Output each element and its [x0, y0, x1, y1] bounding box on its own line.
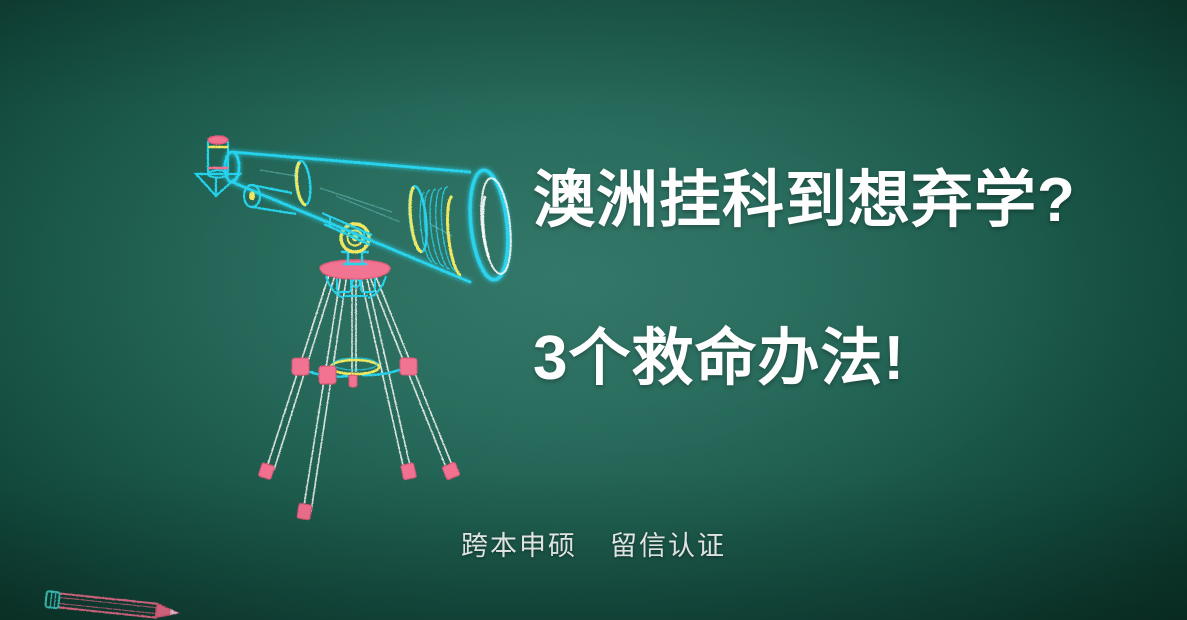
- caption-part-1: 跨本申硕: [461, 531, 577, 561]
- headline-line-2: 3个救命办法!: [533, 326, 1133, 393]
- caption: 跨本申硕 留信认证: [0, 524, 1187, 563]
- caption-part-2: 留信认证: [610, 531, 726, 561]
- headline-line-1: 澳洲挂科到想弃学?: [533, 168, 1133, 235]
- poster-canvas: 澳洲挂科到想弃学? 3个救命办法! 跨本申硕 留信认证: [0, 0, 1187, 620]
